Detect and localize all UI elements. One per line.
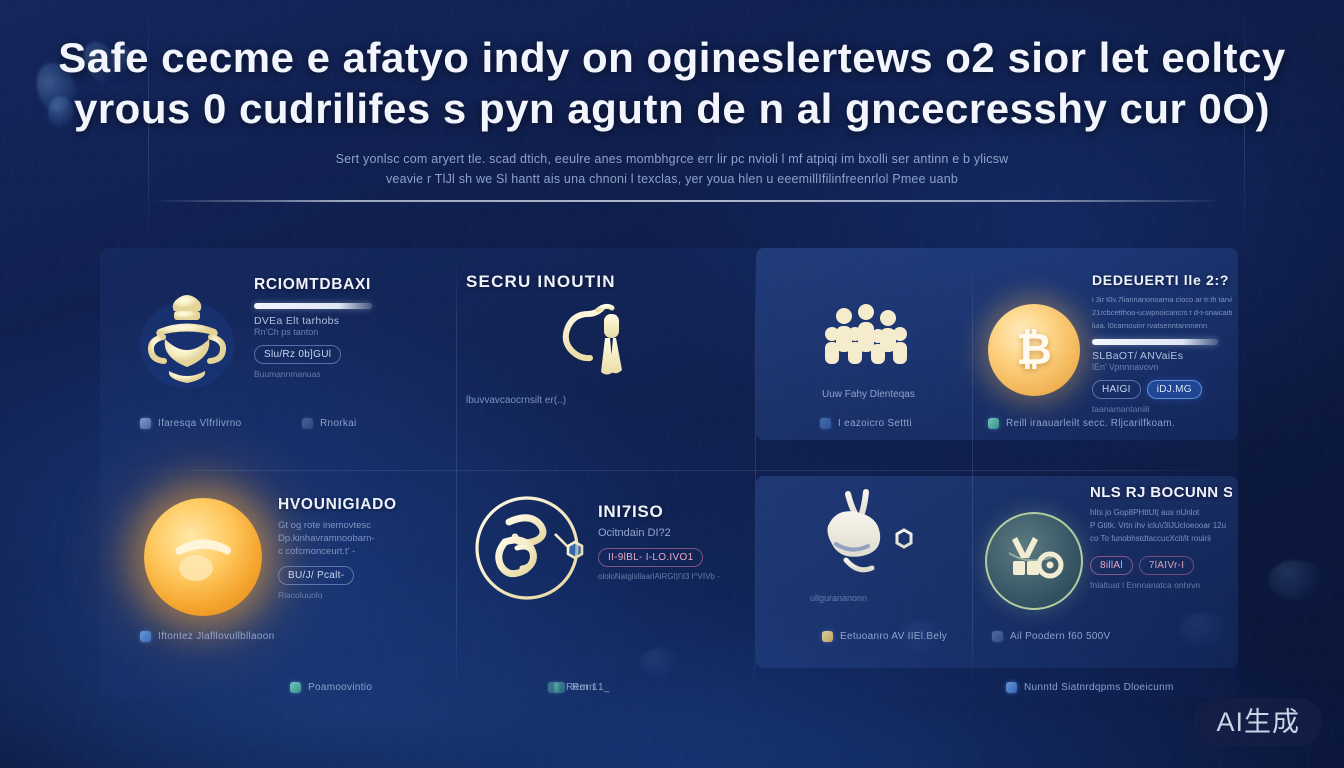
card-footer-label: Eetuoanro AV IIEl.Bely bbox=[840, 631, 947, 642]
network-node-icon bbox=[469, 486, 595, 612]
card-footer-item[interactable]: Reill iraauarleilt secc. Rljcarilfkoam. bbox=[988, 418, 1175, 429]
card-footer-label: Reill iraauarleilt secc. Rljcarilfkoam. bbox=[1006, 418, 1175, 429]
card-footer-item[interactable]: Ifaresqa Vlfrlivrno bbox=[140, 418, 242, 429]
card-body: INI7ISO Ocitndain DI?2 II-9lBL- I-LO.IVO… bbox=[598, 482, 736, 581]
card-body: RCIOMTDBAXI DVEa Elt tarhobs Rn'Ch ps ta… bbox=[246, 270, 428, 379]
page-header: Safe cecme e afatyo indy on ogineslertew… bbox=[0, 34, 1344, 189]
card-desc-line: luia. l0carnouinr rvatsenntannnenn bbox=[1092, 319, 1232, 332]
blue-square-icon bbox=[820, 418, 831, 429]
card-desc-line: Dp.kinhavramnoobarn- bbox=[278, 532, 428, 545]
chip-badge[interactable]: 7lAIVr-I bbox=[1139, 556, 1194, 575]
people-group-icon bbox=[818, 300, 930, 384]
card-footer-item[interactable]: Poamoovintio bbox=[290, 682, 372, 693]
card-description: hIts jo Gop8PHttUt| aus nUnlot P Gtitk. … bbox=[1090, 506, 1232, 545]
feature-card-network[interactable]: INI7ISO Ocitndain DI?2 II-9lBL- I-LO.IVO… bbox=[466, 482, 736, 642]
golden-cup-icon bbox=[135, 279, 239, 401]
card-description: Uuw Fahy Dlenteqas bbox=[822, 388, 970, 401]
chip-row: II-9lBL- I-LO.IVO1 bbox=[598, 548, 736, 567]
card-footer-label: Rern 1_ bbox=[572, 682, 610, 693]
gold-square-icon bbox=[822, 631, 833, 642]
feature-card-bitcoin[interactable]: ₿ DEDEUERTI lle 2:? i 3ir t0v.7liannanon… bbox=[982, 266, 1232, 436]
card-title: NLS RJ BOCUNN SI0 TANE bbox=[1090, 484, 1232, 501]
page-title-line1: Safe cecme e afatyo indy on ogineslertew… bbox=[0, 34, 1344, 82]
card-title: RCIOMTDBAXI bbox=[254, 276, 428, 294]
card-footer-label: I eazoicro Settti bbox=[838, 418, 912, 429]
card-icon-wrap bbox=[128, 270, 246, 410]
grid-separator-vertical bbox=[755, 258, 756, 688]
chip-badge-accent[interactable]: iDJ.MG bbox=[1147, 380, 1202, 399]
page-title-line2: yrous 0 cudrilifes s pyn agutn de n al g… bbox=[0, 85, 1344, 133]
card-footer-item[interactable]: I eazoicro Settti bbox=[820, 418, 912, 429]
chip-badge[interactable]: 8illAl bbox=[1090, 556, 1133, 575]
card-footer-item[interactable]: Eetuoanro AV IIEl.Bely bbox=[822, 631, 947, 642]
progress-meter bbox=[254, 303, 372, 309]
card-desc-line: P Gtitk. Vrtn ihv iclu\/3lJUcloeooar 12u bbox=[1090, 519, 1232, 532]
bitcoin-coin-icon: ₿ bbox=[988, 304, 1080, 396]
feature-card-glowcoin[interactable]: HVOUNIGIADO Gt og rote inemovtesc Dp.kin… bbox=[128, 482, 428, 652]
meter-labels: DVEa Elt tarhobs Rn'Ch ps tanton bbox=[254, 315, 428, 337]
page-subtitle-line1: Sert yonlsc com aryert tle. scad dtich, … bbox=[0, 149, 1344, 169]
chip-badge[interactable]: BU/J/ Pcalt- bbox=[278, 566, 354, 585]
card-desc-line: c cofcmonceurt.t' - bbox=[278, 545, 428, 558]
card-footer-item[interactable]: Rern 1_ bbox=[554, 682, 610, 693]
card-body: HVOUNIGIADO Gt og rote inemovtesc Dp.kin… bbox=[278, 482, 428, 600]
card-desc-line: co To funobhstdtaccucXcit/it rouirii bbox=[1090, 532, 1232, 545]
chip-badge[interactable]: Slu/Rz 0b]GUl bbox=[254, 345, 341, 364]
chip-note: fnlaltuat l Ennnanatca onhrvn bbox=[1090, 580, 1232, 590]
meter-labels: SLBaOT/ ANVaiEs lEn' \/pnnnavovn bbox=[1092, 350, 1232, 372]
feature-card-key[interactable]: SECRU INOUTIN lbuvvavcaocrnsilt er(..) bbox=[466, 272, 736, 422]
card-footer-item[interactable]: Nunntd Siatnrdqpms Dloeicunm bbox=[1006, 682, 1174, 693]
chip-row: Slu/Rz 0b]GUl bbox=[254, 345, 428, 364]
card-desc-line: i 3ir t0v.7liannanonoarna cioco ar tr.th… bbox=[1092, 293, 1232, 306]
card-title: SECRU INOUTIN bbox=[466, 272, 736, 292]
card-desc-line: lbuvvavcaocrnsilt er(..) bbox=[466, 394, 736, 407]
card-icon-wrap bbox=[466, 482, 598, 616]
card-desc-line: Uuw Fahy Dlenteqas bbox=[822, 388, 970, 401]
feature-card-abstract[interactable]: ullgurananonn bbox=[800, 486, 990, 636]
card-icon-wrap bbox=[982, 482, 1086, 632]
card-body: NLS RJ BOCUNN SI0 TANE hIts jo Gop8PHttU… bbox=[1086, 482, 1232, 590]
chip-badge[interactable]: II-9lBL- I-LO.IVO1 bbox=[598, 548, 703, 567]
chip-row: HAIGI iDJ.MG bbox=[1092, 380, 1232, 399]
gold-key-lock-icon bbox=[558, 298, 644, 384]
plain-square-icon bbox=[302, 418, 313, 429]
chip-badge[interactable]: HAIGI bbox=[1092, 380, 1141, 399]
chip-note: Buumannmanuas bbox=[254, 369, 428, 379]
card-description: Ocitndain DI?2 bbox=[598, 527, 736, 540]
card-footer-label: Poamoovintio bbox=[308, 682, 372, 693]
card-footer-label: Ail Poodern f60 500V bbox=[1010, 631, 1111, 642]
page-subtitle-line2: veavie r TlJl sh we Sl hantt ais una chn… bbox=[0, 169, 1344, 189]
grid-separator-horizontal bbox=[112, 470, 1226, 471]
card-desc-line: 21rcbcetthoo-ucwpnoicancrs t d-t-snaicai… bbox=[1092, 306, 1232, 319]
card-body: DEDEUERTI lle 2:? i 3ir t0v.7liannanonoa… bbox=[1086, 266, 1232, 414]
card-description: Gt og rote inemovtesc Dp.kinhavramnoobar… bbox=[278, 519, 428, 558]
card-desc-line: ullgurananonn bbox=[810, 592, 990, 605]
card-footer-label: Ifaresqa Vlfrlivrno bbox=[158, 418, 242, 429]
abstract-white-icon bbox=[806, 486, 924, 590]
feature-card-tools[interactable]: NLS RJ BOCUNN SI0 TANE hIts jo Gop8PHttU… bbox=[982, 482, 1232, 642]
chip-row: 8illAl 7lAIVr-I bbox=[1090, 556, 1232, 575]
chip-row: BU/J/ Pcalt- bbox=[278, 566, 428, 585]
card-footer-label: Rnorkai bbox=[320, 418, 357, 429]
card-footer-item[interactable]: Rnorkai bbox=[302, 418, 357, 429]
background-blob bbox=[1268, 560, 1324, 600]
blue-square-icon bbox=[140, 631, 151, 642]
blue-square-icon bbox=[140, 418, 151, 429]
green-tools-icon bbox=[985, 512, 1083, 610]
card-description: ullgurananonn bbox=[810, 592, 990, 605]
teal-square-icon bbox=[554, 682, 565, 693]
card-desc-line: Gt og rote inemovtesc bbox=[278, 519, 428, 532]
card-title: DEDEUERTI lle 2:? bbox=[1092, 272, 1232, 288]
card-description: lbuvvavcaocrnsilt er(..) bbox=[466, 394, 736, 407]
card-icon-wrap bbox=[128, 482, 278, 632]
card-footer-item[interactable]: Ail Poodern f60 500V bbox=[992, 631, 1111, 642]
page-subtitle: Sert yonlsc com aryert tle. scad dtich, … bbox=[0, 149, 1344, 189]
teal-square-icon bbox=[290, 682, 301, 693]
chip-note: ololoNatglsllaarlAlRGl)l'il3 I^VIVb - bbox=[598, 572, 736, 581]
tools-glyph-icon bbox=[1003, 533, 1065, 589]
meter-label: SLBaOT/ ANVaiEs bbox=[1092, 350, 1232, 362]
card-title: INI7ISO bbox=[598, 502, 736, 522]
card-footer-item[interactable]: Iftontez Jlafllovullbllaoon bbox=[140, 631, 275, 642]
chip-note: Riacoluuolo bbox=[278, 590, 428, 600]
meter-sublabel: lEn' \/pnnnavovn bbox=[1092, 362, 1232, 372]
plain-square-icon bbox=[992, 631, 1003, 642]
coin-glyph-icon bbox=[166, 526, 240, 588]
meter-label: DVEa Elt tarhobs bbox=[254, 315, 428, 327]
card-footer-label: Nunntd Siatnrdqpms Dloeicunm bbox=[1024, 682, 1174, 693]
header-divider bbox=[152, 200, 1224, 202]
ai-generated-watermark: AI生成 bbox=[1194, 698, 1322, 746]
card-title: HVOUNIGIADO bbox=[278, 496, 428, 514]
teal-square-icon bbox=[988, 418, 999, 429]
card-description: i 3ir t0v.7liannanonoarna cioco ar tr.th… bbox=[1092, 293, 1232, 332]
card-icon-wrap: ₿ bbox=[982, 266, 1086, 426]
chip-note: taanarnantaniili bbox=[1092, 404, 1232, 414]
blue-square-icon bbox=[1006, 682, 1017, 693]
card-footer-label: Iftontez Jlafllovullbllaoon bbox=[158, 631, 275, 642]
grid-separator-vertical bbox=[456, 258, 457, 688]
card-desc-line: Ocitndain DI?2 bbox=[598, 527, 736, 540]
card-desc-line: hIts jo Gop8PHttUt| aus nUnlot bbox=[1090, 506, 1232, 519]
progress-meter bbox=[1092, 339, 1218, 345]
meter-sublabel: Rn'Ch ps tanton bbox=[254, 327, 428, 337]
glowing-coin-icon bbox=[144, 498, 262, 616]
